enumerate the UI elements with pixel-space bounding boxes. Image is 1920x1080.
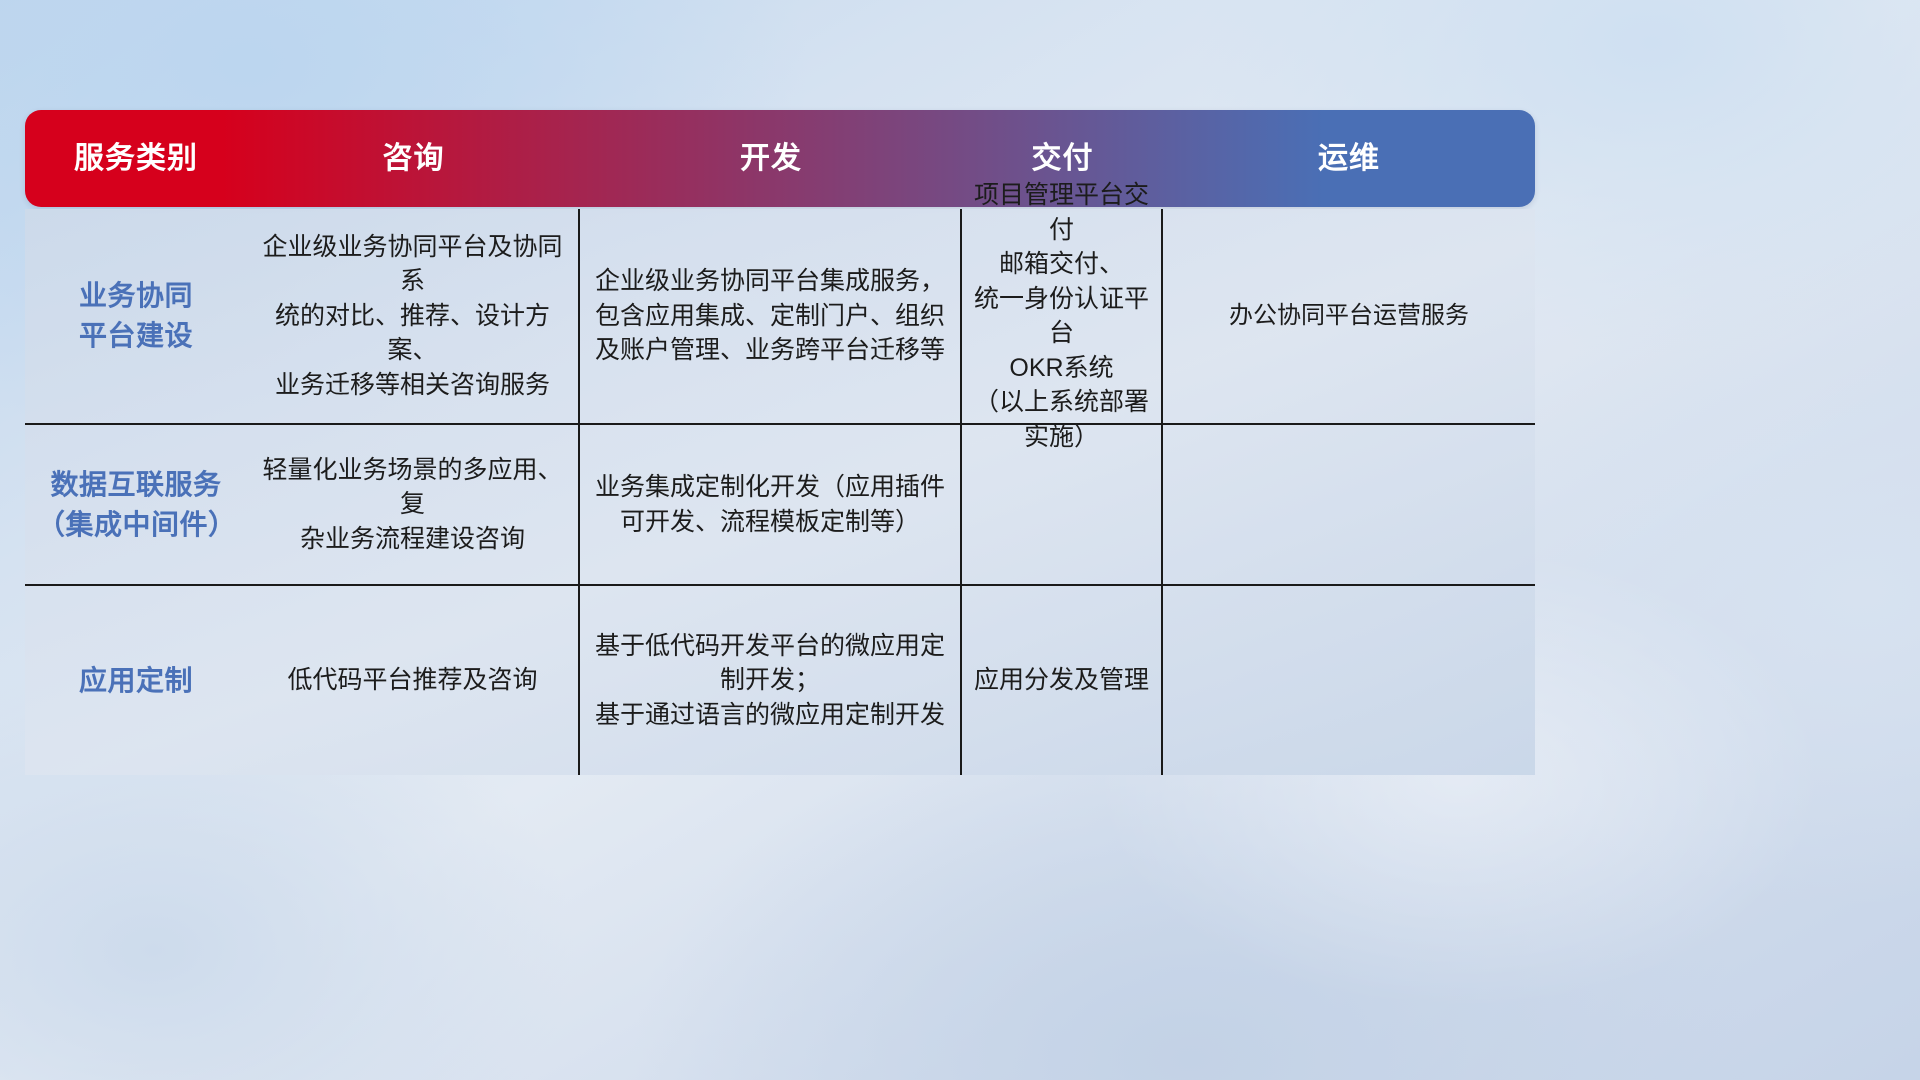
table-row: 数据互联服务 （集成中间件） 轻量化业务场景的多应用、复 杂业务流程建设咨询 业… bbox=[25, 425, 1535, 586]
cell-delivery bbox=[962, 425, 1163, 584]
service-matrix-table: 服务类别 咨询 开发 交付 运维 业务协同 平台建设 企业级业务协同平台及协同系… bbox=[25, 110, 1535, 775]
cell-development: 企业级业务协同平台集成服务， 包含应用集成、定制门户、组织 及账户管理、业务跨平… bbox=[580, 209, 962, 423]
table-header-row: 服务类别 咨询 开发 交付 运维 bbox=[25, 110, 1535, 207]
cell-operations bbox=[1163, 586, 1535, 775]
column-header-development: 开发 bbox=[580, 144, 962, 174]
row-category-label: 应用定制 bbox=[25, 586, 247, 775]
table-row: 业务协同 平台建设 企业级业务协同平台及协同系 统的对比、推荐、设计方案、 业务… bbox=[25, 209, 1535, 425]
table-row: 应用定制 低代码平台推荐及咨询 基于低代码开发平台的微应用定 制开发； 基于通过… bbox=[25, 586, 1535, 775]
cell-development: 业务集成定制化开发（应用插件 可开发、流程模板定制等） bbox=[580, 425, 962, 584]
cell-consulting: 轻量化业务场景的多应用、复 杂业务流程建设咨询 bbox=[247, 425, 580, 584]
row-category-label: 数据互联服务 （集成中间件） bbox=[25, 425, 247, 584]
column-header-operations: 运维 bbox=[1163, 144, 1535, 174]
cell-delivery: 应用分发及管理 bbox=[962, 586, 1163, 775]
table-body: 业务协同 平台建设 企业级业务协同平台及协同系 统的对比、推荐、设计方案、 业务… bbox=[25, 209, 1535, 775]
cell-development: 基于低代码开发平台的微应用定 制开发； 基于通过语言的微应用定制开发 bbox=[580, 586, 962, 775]
cell-operations bbox=[1163, 425, 1535, 584]
cell-delivery: 项目管理平台交付 邮箱交付、 统一身份认证平台 OKR系统 （以上系统部署实施） bbox=[962, 209, 1163, 423]
column-header-consulting: 咨询 bbox=[247, 144, 580, 174]
row-category-label: 业务协同 平台建设 bbox=[25, 209, 247, 423]
cell-consulting: 企业级业务协同平台及协同系 统的对比、推荐、设计方案、 业务迁移等相关咨询服务 bbox=[247, 209, 580, 423]
cell-consulting: 低代码平台推荐及咨询 bbox=[247, 586, 580, 775]
cell-operations: 办公协同平台运营服务 bbox=[1163, 209, 1535, 423]
column-header-category: 服务类别 bbox=[25, 144, 247, 174]
column-header-delivery: 交付 bbox=[962, 144, 1163, 174]
